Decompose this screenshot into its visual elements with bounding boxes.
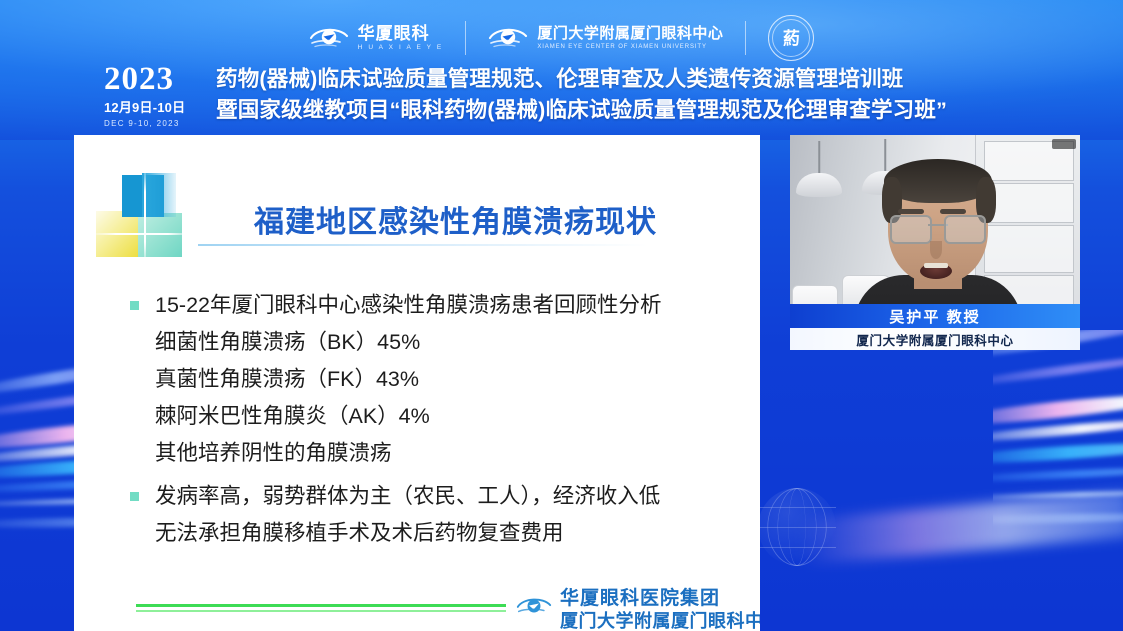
speaker-name-bar: 吴护平 教授 <box>790 304 1080 328</box>
broadcast-screen: 华厦眼科 H U A X I A E Y E 厦门大学附属厦门眼 <box>0 0 1123 631</box>
slide-text-line: 棘阿米巴性角膜炎（AK）4% <box>155 398 740 435</box>
event-date-block: 2023 12月9日-10日 DEC 9-10, 2023 <box>104 64 214 128</box>
footer-logo-line-1: 华厦眼科医院集团 <box>560 589 760 609</box>
slide-body: 15-22年厦门眼科中心感染性角膜溃疡患者回顾性分析 细菌性角膜溃疡（BK）45… <box>130 287 740 558</box>
slide-text-line: 发病率高，弱势群体为主（农民、工人），经济收入低 <box>155 478 740 515</box>
globe-icon <box>758 488 836 566</box>
logo-label-cn: 厦门大学附属厦门眼科中心 <box>537 26 723 41</box>
decoration-line-vertical <box>144 167 146 267</box>
bullet-square-icon <box>130 492 139 501</box>
event-date-cn: 12月9日-10日 <box>104 97 214 116</box>
slide-footer-rule-light <box>136 610 506 612</box>
logo-xiamen-eye-center: 厦门大学附属厦门眼科中心 XIAMEN EYE CENTER OF XIAMEN… <box>466 25 745 51</box>
decoration-line-horizontal <box>90 233 194 235</box>
speaker-org-bar: 厦门大学附属厦门眼科中心 <box>790 328 1080 350</box>
slide-text-line: 其他培养阴性的角膜溃疡 <box>155 435 740 472</box>
slide-text-line: 15-22年厦门眼科中心感染性角膜溃疡患者回顾性分析 <box>155 287 740 324</box>
slide-title: 福建地区感染性角膜溃疡现状 <box>254 197 657 241</box>
logo-institution-seal: 葯 <box>746 15 836 61</box>
video-corner-badge <box>1052 139 1076 149</box>
slide-decoration-squares <box>96 171 182 257</box>
presentation-slide: 福建地区感染性角膜溃疡现状 15-22年厦门眼科中心感染性角膜溃疡患者回顾性分析… <box>74 135 760 631</box>
conference-title-line-2: 暨国家级继教项目“眼科药物(器械)临床试验质量管理规范及伦理审查学习班” <box>216 95 1123 126</box>
logo-huaxia-eye: 华厦眼科 H U A X I A E Y E <box>287 25 466 52</box>
speaker-name: 吴护平 教授 <box>889 306 980 327</box>
decoration-square-fade <box>142 173 176 217</box>
conference-titles: 药物(器械)临床试验质量管理规范、伦理审查及人类遗传资源管理培训班 暨国家级继教… <box>214 64 1123 126</box>
logo-label-en: H U A X I A E Y E <box>358 45 444 52</box>
eye-logo-icon <box>488 25 528 51</box>
seal-character: 葯 <box>783 30 800 47</box>
seal-logo-icon: 葯 <box>768 15 814 61</box>
eye-logo-icon <box>516 595 552 622</box>
bullet-square-icon <box>130 301 139 310</box>
slide-text-line: 细菌性角膜溃疡（BK）45% <box>155 324 740 361</box>
slide-text-line: 无法承担角膜移植手术及术后药物复查费用 <box>155 515 740 552</box>
eye-logo-icon <box>309 25 349 51</box>
conference-title-row: 2023 12月9日-10日 DEC 9-10, 2023 药物(器械)临床试验… <box>0 64 1123 128</box>
footer-logo-line-2: 厦门大学附属厦门眼科中心 <box>560 612 760 631</box>
slide-text-line: 真菌性角膜溃疡（FK）43% <box>155 361 740 398</box>
event-header: 华厦眼科 H U A X I A E Y E 厦门大学附属厦门眼 <box>0 0 1123 135</box>
event-year: 2023 <box>104 64 214 94</box>
bullet-block: 发病率高，弱势群体为主（农民、工人），经济收入低 无法承担角膜移植手术及术后药物… <box>130 478 740 552</box>
eyeglasses-icon <box>890 215 986 241</box>
sponsor-logo-row: 华厦眼科 H U A X I A E Y E 厦门大学附属厦门眼 <box>0 14 1123 62</box>
event-date-en: DEC 9-10, 2023 <box>104 119 214 128</box>
slide-title-underline <box>198 244 648 246</box>
conference-title-line-1: 药物(器械)临床试验质量管理规范、伦理审查及人类遗传资源管理培训班 <box>216 64 1123 95</box>
logo-label-en: XIAMEN EYE CENTER OF XIAMEN UNIVERSITY <box>537 44 723 50</box>
slide-footer-logo: 华厦眼科医院集团 厦门大学附属厦门眼科中心 <box>516 589 760 631</box>
logo-label-cn: 华厦眼科 <box>358 25 444 42</box>
slide-footer-rule <box>136 604 506 607</box>
speaker-organization: 厦门大学附属厦门眼科中心 <box>856 330 1013 349</box>
bullet-block: 15-22年厦门眼科中心感染性角膜溃疡患者回顾性分析 细菌性角膜溃疡（BK）45… <box>130 287 740 472</box>
